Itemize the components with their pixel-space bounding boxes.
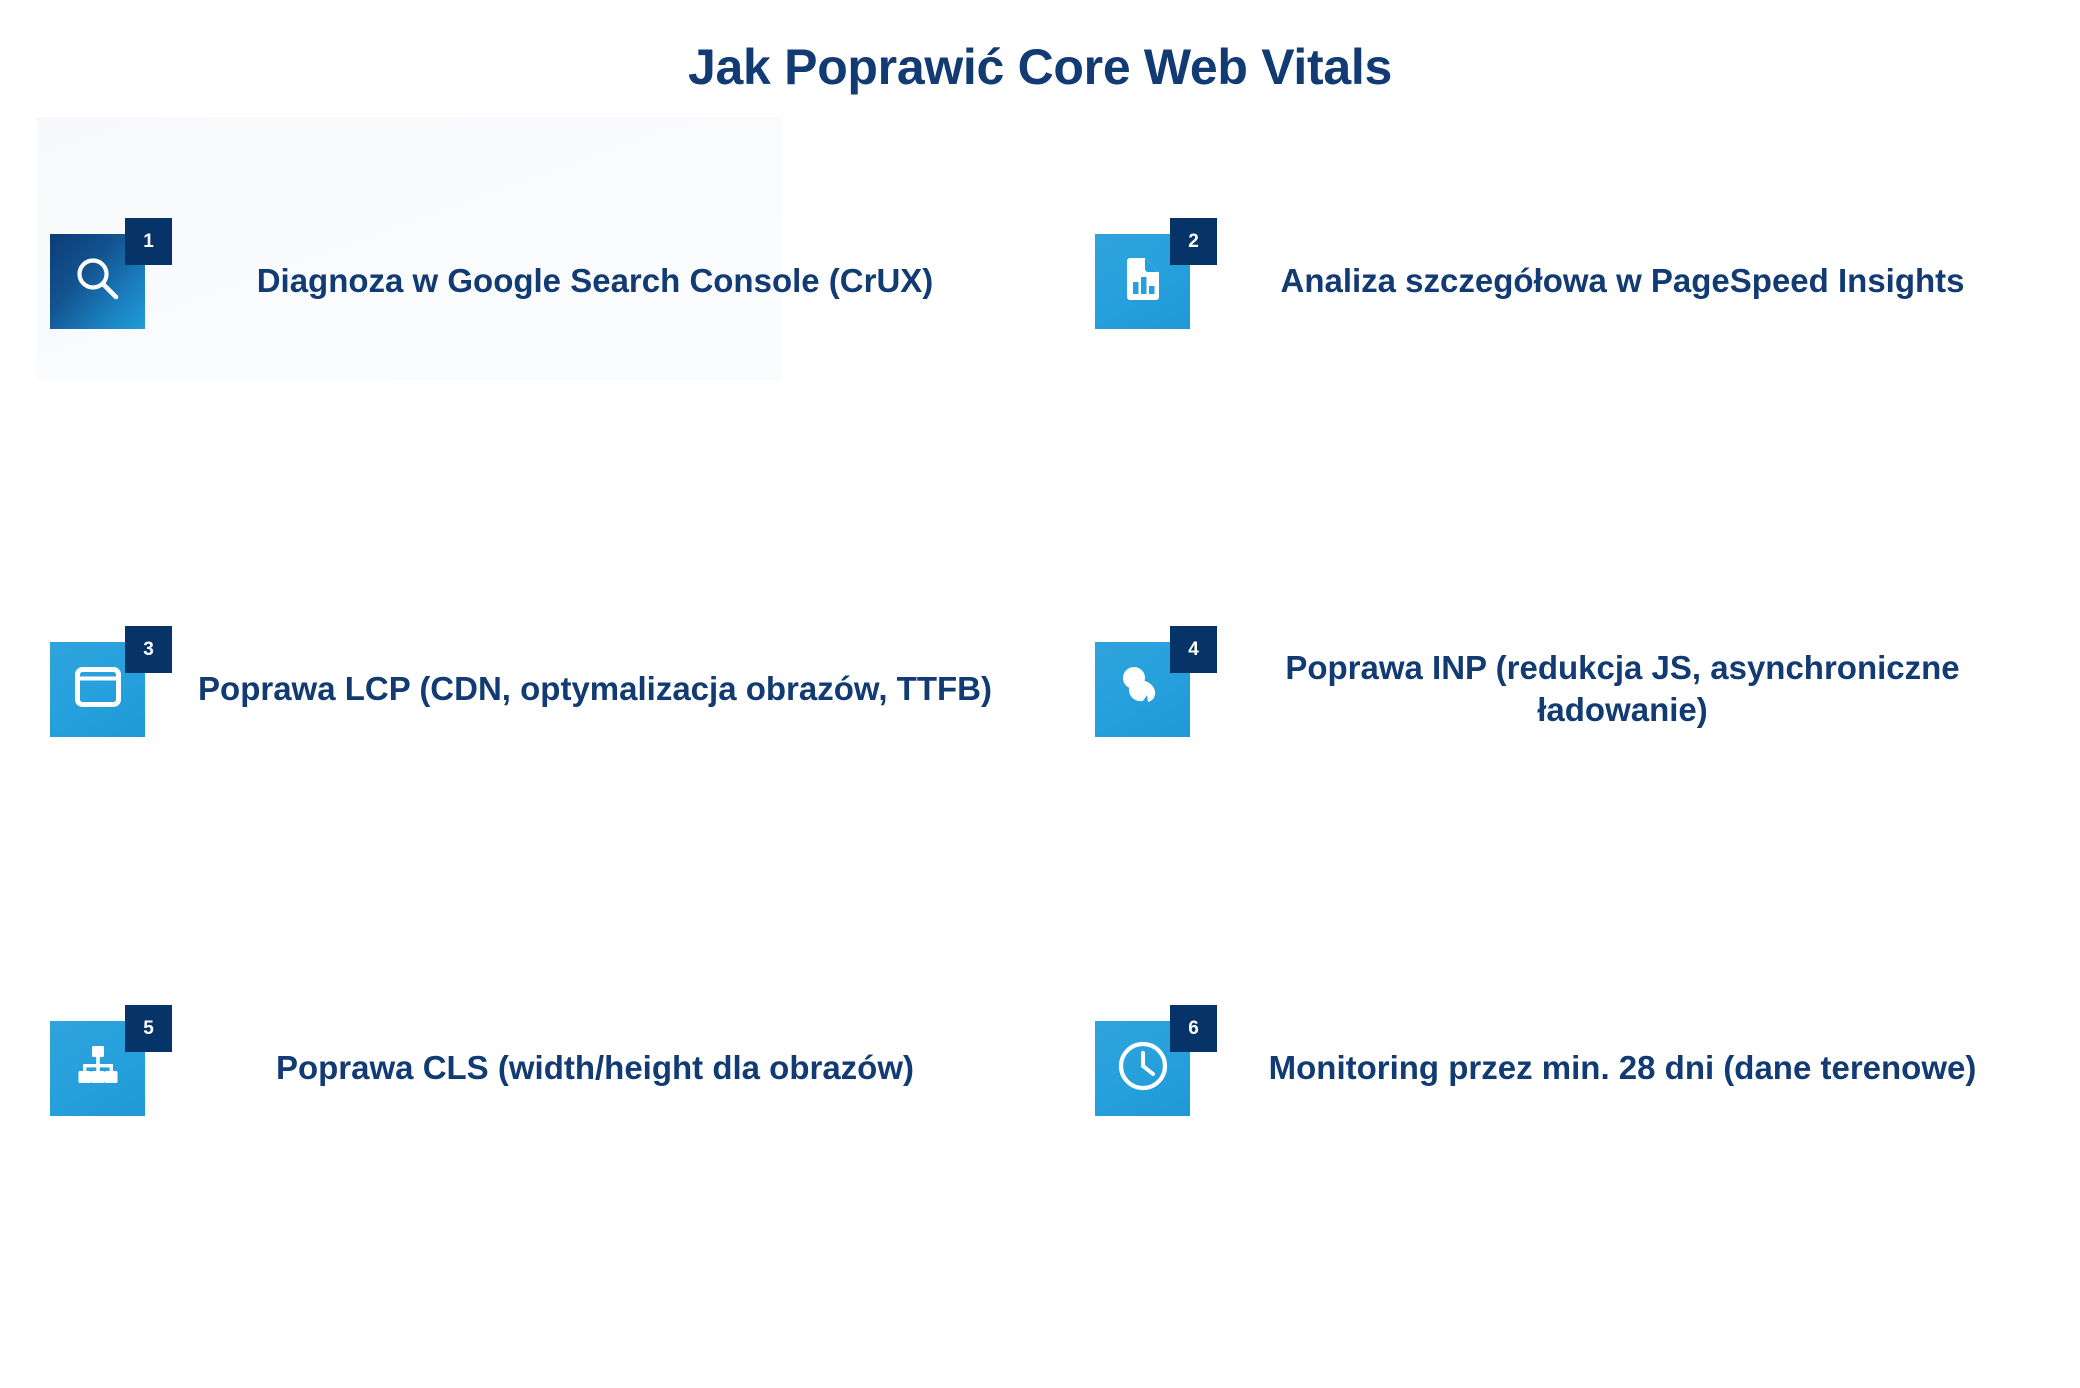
step-3-label: Poprawa LCP (CDN, optymalizacja obrazów,… <box>172 668 1040 710</box>
step-1-tile-wrap: 1 <box>50 234 172 329</box>
step-3-number-badge: 3 <box>125 626 172 673</box>
step-3-tile-wrap: 3 <box>50 642 172 737</box>
step-4-number-badge: 4 <box>1170 626 1217 673</box>
step-4-label: Poprawa INP (redukcja JS, asynchroniczne… <box>1217 647 2020 731</box>
step-card-5[interactable]: 5 Poprawa CLS (width/height dla obrazów) <box>0 869 1040 1247</box>
step-5-label: Poprawa CLS (width/height dla obrazów) <box>172 1047 1040 1089</box>
step-card-4[interactable]: 4 Poprawa INP (redukcja JS, asynchronicz… <box>1040 491 2080 869</box>
step-2-number-badge: 2 <box>1170 218 1217 265</box>
step-2-tile-wrap: 2 <box>1095 234 1217 329</box>
step-card-6[interactable]: 6 Monitoring przez min. 28 dni (dane ter… <box>1040 869 2080 1247</box>
step-card-2[interactable]: 2 Analiza szczegółowa w PageSpeed Insigh… <box>1040 117 2080 491</box>
step-6-tile-wrap: 6 <box>1095 1021 1217 1116</box>
step-6-number-badge: 6 <box>1170 1005 1217 1052</box>
page-title: Jak Poprawić Core Web Vitals <box>0 38 2080 96</box>
step-1-number-badge: 1 <box>125 218 172 265</box>
pointer-click-icon <box>1119 665 1167 714</box>
step-4-tile-wrap: 4 <box>1095 642 1217 737</box>
step-card-3[interactable]: 3 Poprawa LCP (CDN, optymalizacja obrazó… <box>0 491 1040 869</box>
step-5-tile-wrap: 5 <box>50 1021 172 1116</box>
sitemap-icon <box>75 1045 121 1092</box>
steps-grid: 1 Diagnoza w Google Search Console (CrUX… <box>0 117 2080 1247</box>
step-1-label: Diagnoza w Google Search Console (CrUX) <box>172 260 1040 302</box>
step-card-1[interactable]: 1 Diagnoza w Google Search Console (CrUX… <box>0 117 1040 491</box>
clock-icon <box>1117 1040 1169 1097</box>
step-6-label: Monitoring przez min. 28 dni (dane teren… <box>1217 1047 2020 1089</box>
document-chart-icon <box>1119 255 1167 308</box>
step-2-label: Analiza szczegółowa w PageSpeed Insights <box>1217 260 2020 302</box>
magnifier-icon <box>72 253 124 310</box>
browser-window-icon <box>75 667 121 712</box>
step-5-number-badge: 5 <box>125 1005 172 1052</box>
